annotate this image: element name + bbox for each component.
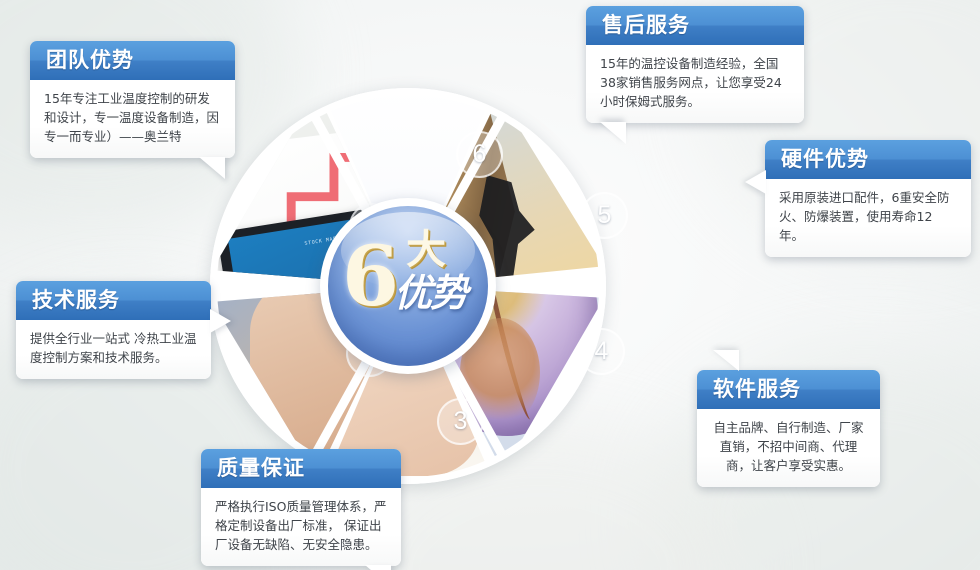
center-badge: 6 大 优势 xyxy=(320,198,496,374)
callout-body: 自主品牌、自行制造、厂家直销，不招中间商、代理商，让客户享受实惠。 xyxy=(697,409,880,487)
callout-title: 软件服务 xyxy=(697,370,880,409)
advantages-wheel: STOCK MARKET DATA INTC 440.95 xyxy=(210,88,606,484)
callout-title: 技术服务 xyxy=(16,281,211,320)
callout-tail xyxy=(210,309,231,333)
segment-number-5[interactable]: 5 xyxy=(581,192,628,239)
callout-body: 严格执行ISO质量管理体系，严格定制设备出厂标准， 保证出厂设备无缺陷、无安全隐… xyxy=(201,488,401,566)
callout-software-service[interactable]: 软件服务 自主品牌、自行制造、厂家直销，不招中间商、代理商，让客户享受实惠。 xyxy=(697,370,880,487)
callout-body: 采用原装进口配件，6重安全防火、防爆装置，使用寿命12年。 xyxy=(765,179,971,257)
callout-quality-assurance[interactable]: 质量保证 严格执行ISO质量管理体系，严格定制设备出厂标准， 保证出厂设备无缺陷… xyxy=(201,449,401,566)
callout-title: 团队优势 xyxy=(30,41,235,80)
callout-tail xyxy=(600,122,626,144)
infographic-canvas: STOCK MARKET DATA INTC 440.95 xyxy=(0,0,980,570)
callout-technical-service[interactable]: 技术服务 提供全行业一站式 冷热工业温度控制方案和技术服务。 xyxy=(16,281,211,379)
callout-tail xyxy=(745,170,766,194)
callout-after-sales[interactable]: 售后服务 15年的温控设备制造经验，全国38家销售服务网点，让您享受24小时保姆… xyxy=(586,6,804,123)
callout-tail xyxy=(713,350,739,371)
callout-title: 硬件优势 xyxy=(765,140,971,179)
callout-tail xyxy=(199,157,225,179)
callout-body: 15年的温控设备制造经验，全国38家销售服务网点，让您享受24小时保姆式服务。 xyxy=(586,45,804,123)
callout-body: 15年专注工业温度控制的研发和设计，专一温度设备制造，因专一而专业）——奥兰特 xyxy=(30,80,235,158)
badge-youshi-text: 优势 xyxy=(394,272,466,314)
segment-number-6[interactable]: 6 xyxy=(456,131,503,178)
segment-number-4[interactable]: 4 xyxy=(578,328,625,375)
callout-tail xyxy=(365,565,391,570)
center-badge-disc: 6 大 优势 xyxy=(328,206,488,366)
callout-title: 售后服务 xyxy=(586,6,804,45)
callout-hardware-advantage[interactable]: 硬件优势 采用原装进口配件，6重安全防火、防爆装置，使用寿命12年。 xyxy=(765,140,971,257)
badge-number: 6 xyxy=(342,236,399,318)
segment-number-3[interactable]: 3 xyxy=(437,398,484,445)
callout-title: 质量保证 xyxy=(201,449,401,488)
callout-team-advantage[interactable]: 团队优势 15年专注工业温度控制的研发和设计，专一温度设备制造，因专一而专业）—… xyxy=(30,41,235,158)
badge-da-char: 大 xyxy=(406,230,446,270)
callout-body: 提供全行业一站式 冷热工业温度控制方案和技术服务。 xyxy=(16,320,211,379)
